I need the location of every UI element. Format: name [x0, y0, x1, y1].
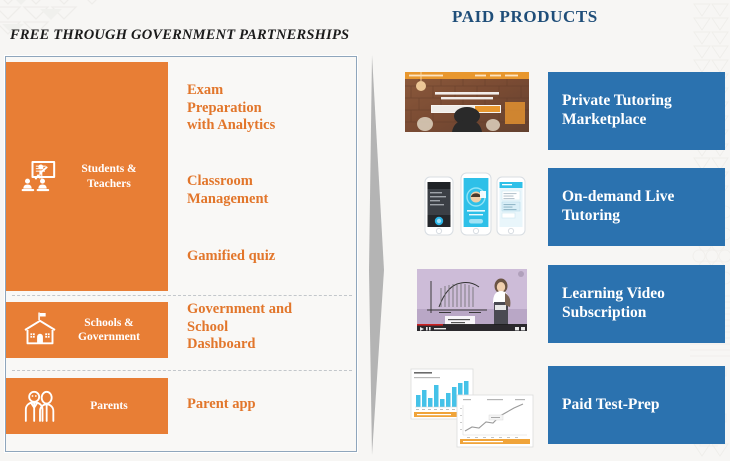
teacher-whiteboard-students-icon: [20, 157, 60, 197]
segment-separator: [12, 295, 352, 296]
audience-label-line1: Students &: [58, 162, 160, 176]
product-label-live-tutoring: On-demand Live Tutoring: [562, 188, 674, 226]
segment-separator: [12, 370, 352, 371]
audience-swatch-students-teachers: Students & Teachers: [6, 62, 168, 291]
feature-line: Gamified quiz: [187, 248, 275, 266]
free-products-panel: Students & Teachers Exam Preparation wit…: [5, 56, 357, 452]
product-row-live-tutoring[interactable]: On-demand Live Tutoring: [405, 168, 725, 252]
product-label-line: Tutoring: [562, 207, 674, 226]
feature-line: with Analytics: [187, 117, 275, 135]
product-label-learning-video: Learning Video Subscription: [562, 285, 665, 323]
product-label-line: On-demand Live: [562, 188, 674, 207]
thumbnail-analytics-chart-cards: [405, 366, 545, 450]
product-box-learning-video[interactable]: Learning Video Subscription: [548, 265, 725, 343]
feature-line: Exam: [187, 82, 275, 100]
audience-label-line2: Government: [58, 330, 160, 344]
audience-label-line2: Teachers: [58, 177, 160, 191]
segment-students-teachers[interactable]: Students & Teachers Exam Preparation wit…: [6, 62, 356, 291]
product-label-private-tutoring: Private Tutoring Marketplace: [562, 92, 672, 130]
feature-line: Management: [187, 191, 268, 209]
product-box-paid-test-prep[interactable]: Paid Test-Prep: [548, 366, 725, 444]
feature-list-schools-government: Government and School Dashboard: [168, 302, 356, 358]
thumbnail-learning-video-player: [405, 265, 545, 349]
audience-swatch-parents: Parents: [6, 378, 168, 434]
product-row-private-tutoring[interactable]: Private Tutoring Marketplace: [405, 72, 725, 156]
feature-line: Preparation: [187, 100, 275, 118]
feature-line: Dashboard: [187, 336, 292, 354]
paid-section-title: PAID PRODUCTS: [452, 7, 598, 27]
product-row-learning-video[interactable]: Learning Video Subscription: [405, 265, 725, 349]
product-label-line: Paid Test-Prep: [562, 396, 659, 415]
free-section-title: FREE THROUGH GOVERNMENT PARTNERSHIPS: [10, 27, 349, 44]
product-label-line: Marketplace: [562, 111, 672, 130]
audience-label-line1: Schools &: [58, 316, 160, 330]
audience-label-line1: Parents: [58, 399, 160, 413]
product-label-line: Subscription: [562, 304, 665, 323]
feature-line: Classroom: [187, 173, 268, 191]
slide-canvas: FREE THROUGH GOVERNMENT PARTNERSHIPS PAI…: [0, 0, 730, 461]
product-label-line: Learning Video: [562, 285, 665, 304]
center-divider-sliver: [366, 55, 394, 455]
product-label-paid-test-prep: Paid Test-Prep: [562, 396, 659, 415]
feature-list-parents: Parent app: [168, 378, 356, 434]
thumbnail-tutoring-website-brickwall: [405, 72, 545, 156]
feature-list-students-teachers: Exam Preparation with Analytics Classroo…: [168, 62, 356, 291]
feature-classroom-management[interactable]: Classroom Management: [187, 173, 268, 208]
product-box-live-tutoring[interactable]: On-demand Live Tutoring: [548, 168, 725, 246]
product-row-paid-test-prep[interactable]: Paid Test-Prep: [405, 366, 725, 450]
product-label-line: Private Tutoring: [562, 92, 672, 111]
parents-couple-icon: [20, 386, 60, 426]
audience-swatch-schools-government: Schools & Government: [6, 302, 168, 358]
feature-line: Government and: [187, 301, 292, 319]
feature-line: School: [187, 319, 292, 337]
product-box-private-tutoring[interactable]: Private Tutoring Marketplace: [548, 72, 725, 150]
feature-government-school-dashboard[interactable]: Government and School Dashboard: [187, 301, 292, 354]
school-building-flag-icon: [20, 310, 60, 350]
feature-parent-app[interactable]: Parent app: [187, 396, 256, 414]
feature-exam-preparation[interactable]: Exam Preparation with Analytics: [187, 82, 275, 135]
feature-line: Parent app: [187, 396, 256, 414]
segment-parents[interactable]: Parents Parent app: [6, 378, 356, 434]
feature-gamified-quiz[interactable]: Gamified quiz: [187, 248, 275, 266]
segment-schools-government[interactable]: Schools & Government Government and Scho…: [6, 302, 356, 358]
thumbnail-three-phone-mockups: [405, 168, 545, 252]
